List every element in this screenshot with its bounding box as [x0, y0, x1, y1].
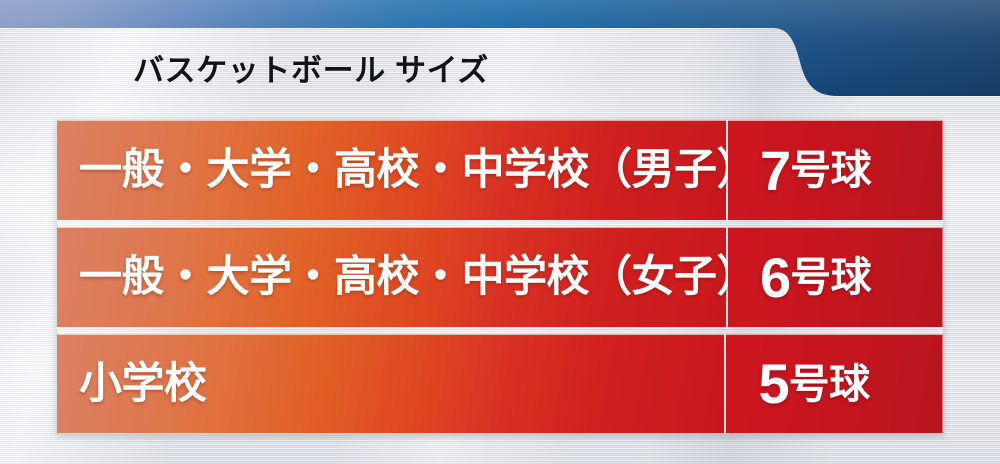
table-row: 小学校 5 号球	[57, 334, 943, 434]
category-label: 一般・大学・高校・中学校（男子）	[79, 149, 759, 192]
size-number: 5	[758, 356, 788, 412]
table-cell-category: 一般・大学・高校・中学校（男子）	[57, 120, 726, 220]
basketball-size-table: 一般・大学・高校・中学校（男子） 7 号球 一般・大学・高校・中学校（女子） 6…	[57, 120, 943, 434]
category-label: 小学校	[79, 363, 207, 406]
table-cell-size: 7 号球	[728, 120, 943, 220]
table-cell-category: 一般・大学・高校・中学校（女子）	[57, 227, 726, 327]
table-cell-category: 小学校	[57, 334, 724, 434]
table-row: 一般・大学・高校・中学校（女子） 6 号球	[57, 227, 943, 327]
infographic-canvas: バスケットボール サイズ 一般・大学・高校・中学校（男子） 7 号球 一般・大学…	[0, 0, 1000, 464]
size-unit: 号球	[790, 257, 871, 298]
size-number: 6	[760, 250, 790, 306]
size-unit: 号球	[790, 150, 871, 191]
size-unit: 号球	[789, 364, 870, 405]
category-label: 一般・大学・高校・中学校（女子）	[79, 256, 759, 299]
page-title: バスケットボール サイズ	[133, 45, 489, 90]
table-cell-size: 5 号球	[726, 334, 943, 434]
table-row: 一般・大学・高校・中学校（男子） 7 号球	[57, 120, 943, 220]
table-cell-size: 6 号球	[728, 227, 943, 327]
size-number: 7	[760, 143, 790, 199]
